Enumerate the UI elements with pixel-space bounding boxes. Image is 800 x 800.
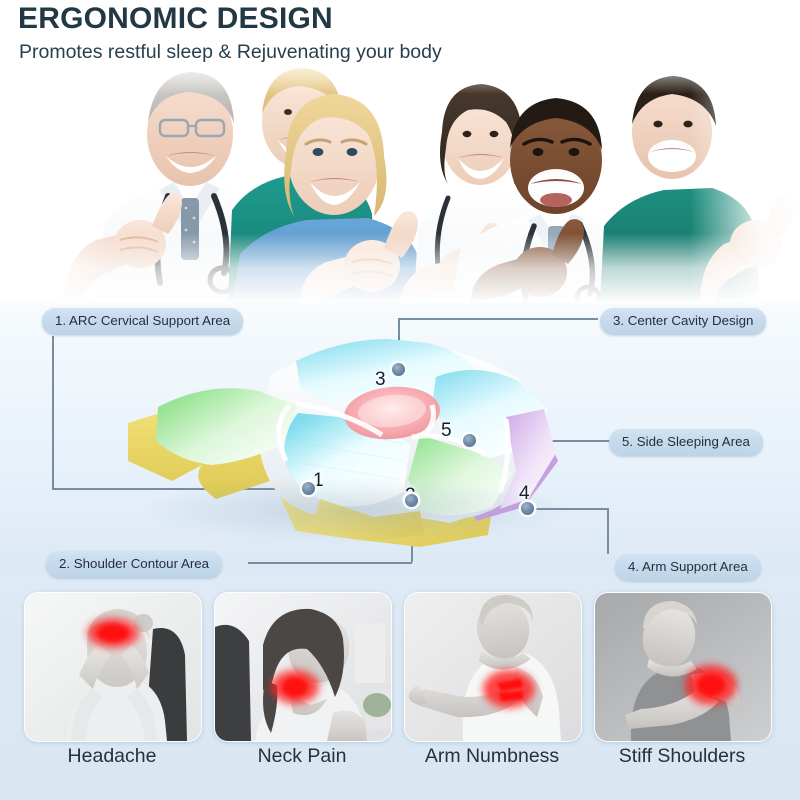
symptom-photo-headache [25, 593, 201, 741]
zone-marker-3-number: 3 [375, 370, 386, 389]
symptom-card-headache[interactable] [24, 592, 202, 742]
page-subtitle: Promotes restful sleep & Rejuvenating yo… [19, 39, 778, 65]
symptom-caption-neck-pain: Neck Pain [214, 744, 390, 768]
header: ERGONOMIC DESIGN Promotes restful sleep … [18, 0, 778, 65]
symptom-caption-stiff-shoulders: Stiff Shoulders [594, 744, 770, 768]
symptom-caption-headache: Headache [24, 744, 200, 768]
zone-marker-5-dot[interactable] [463, 434, 476, 447]
callout-1-arc-cervical-support-area[interactable]: 1. ARC Cervical Support Area [42, 308, 243, 335]
callout-2-shoulder-contour-area[interactable]: 2. Shoulder Contour Area [46, 551, 222, 578]
symptom-caption-arm-numbness: Arm Numbness [404, 744, 580, 768]
zone-marker-3-dot[interactable] [392, 363, 405, 376]
symptom-cards: Headache [0, 592, 800, 800]
symptom-card-arm-numbness[interactable] [404, 592, 582, 742]
hero-photo-band [0, 48, 800, 303]
symptom-photo-arm-numbness [405, 593, 581, 741]
symptom-card-stiff-shoulders[interactable] [594, 592, 772, 742]
leader-line-2-horizontal [248, 562, 412, 564]
zone-marker-5-number: 5 [441, 421, 452, 440]
callout-5-side-sleeping-area[interactable]: 5. Side Sleeping Area [609, 429, 763, 456]
zone-marker-1-dot[interactable] [302, 482, 315, 495]
leader-line-1-vertical [52, 336, 54, 488]
zone-marker-2-dot[interactable] [405, 494, 418, 507]
leader-line-4-vertical [607, 508, 609, 554]
symptom-card-neck-pain[interactable] [214, 592, 392, 742]
zone-marker-4-number: 4 [519, 484, 530, 503]
infographic-page: ERGONOMIC DESIGN Promotes restful sleep … [0, 0, 800, 800]
symptom-photo-stiff-shoulders [595, 593, 771, 741]
callout-3-center-cavity-design[interactable]: 3. Center Cavity Design [600, 308, 766, 335]
page-title: ERGONOMIC DESIGN [18, 2, 778, 36]
zone-marker-4-dot[interactable] [521, 502, 534, 515]
callout-4-arm-support-area[interactable]: 4. Arm Support Area [615, 554, 761, 581]
pillow-shadow [150, 480, 560, 540]
symptom-photo-neck-pain [215, 593, 391, 741]
